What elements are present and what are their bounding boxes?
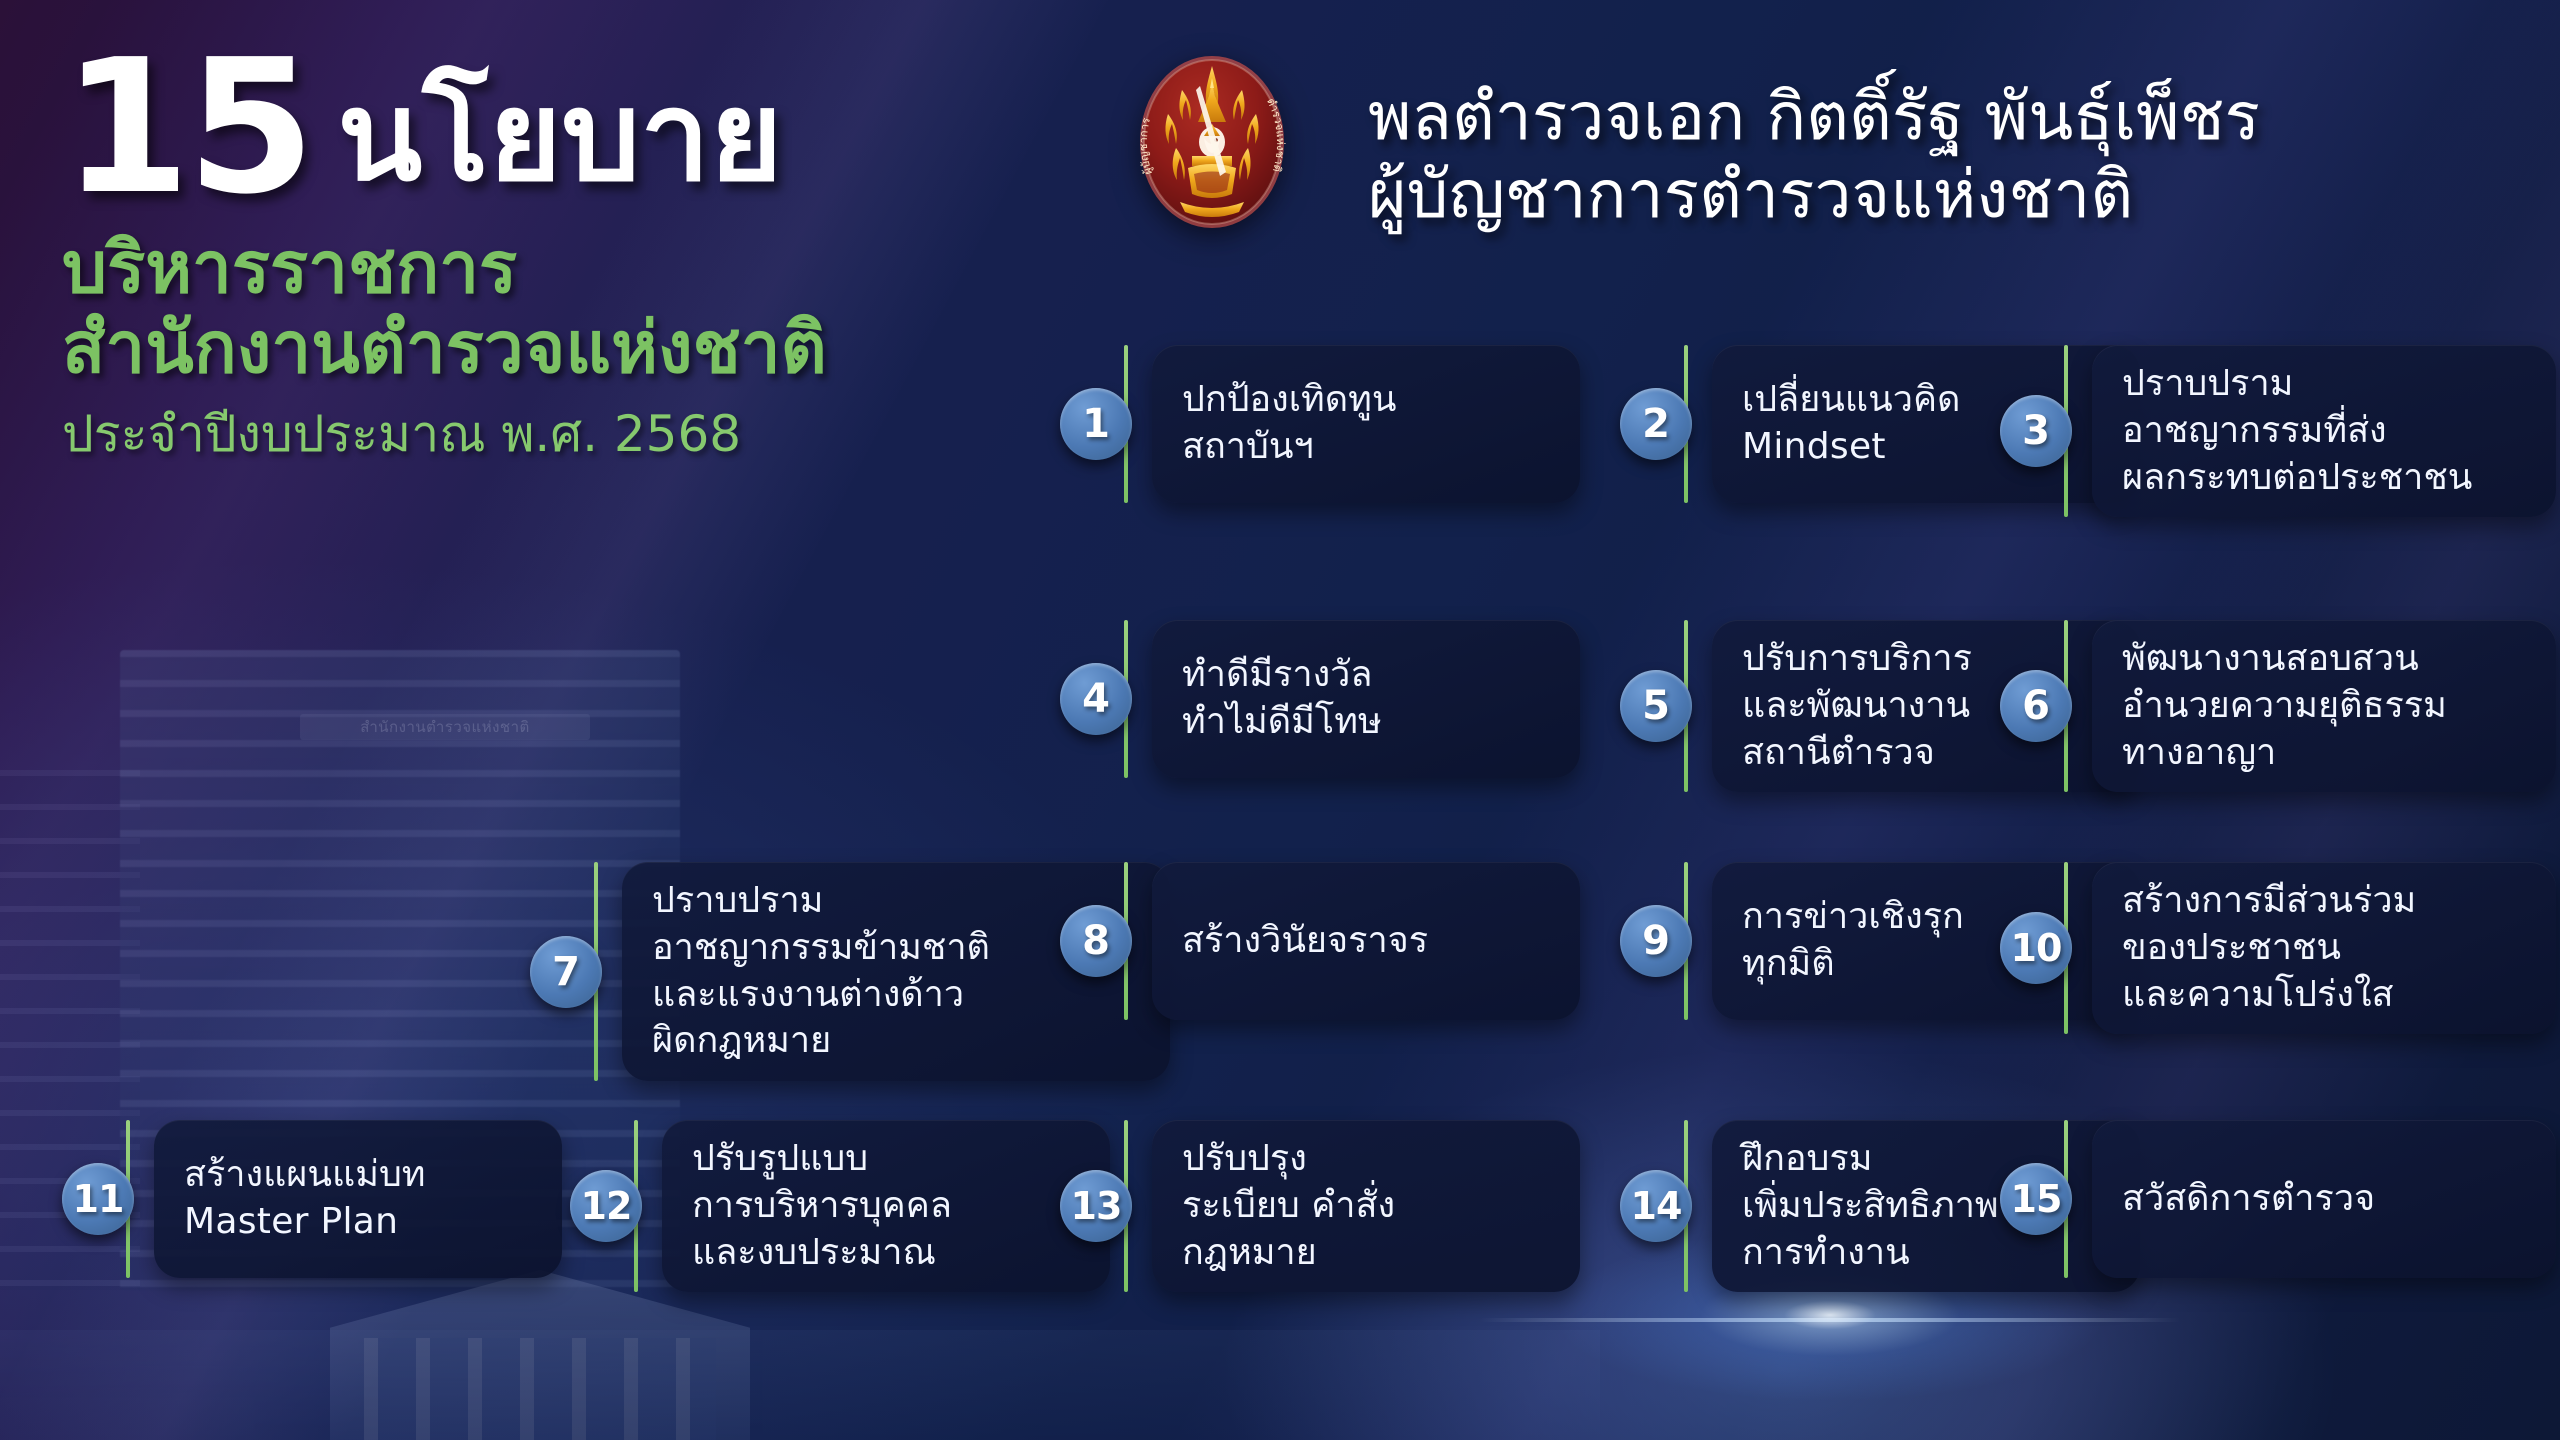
policy-text: ปราบปรามอาชญากรรมที่ส่งผลกระทบต่อประชาชน [2122,361,2472,501]
policy-card[interactable]: ปกป้องเทิดทูนสถาบันฯ [1152,345,1580,503]
policy-number-badge: 9 [1620,905,1692,977]
policy-text: สวัสดิการตำรวจ [2122,1176,2375,1223]
policy-card[interactable]: สร้างแผนแม่บทMaster Plan [154,1120,562,1278]
policy-text: เปลี่ยนแนวคิดMindset [1742,377,1960,471]
policy-number-badge: 13 [1060,1170,1132,1242]
policy-item-10[interactable]: 10 สร้างการมีส่วนร่วมของประชาชนและความโป… [2000,862,2556,1034]
policy-number-badge: 5 [1620,670,1692,742]
policy-number-badge: 11 [62,1163,134,1235]
policy-item-4[interactable]: 4 ทำดีมีรางวัลทำไม่ดีมีโทษ [1060,620,1580,778]
policy-card[interactable]: ทำดีมีรางวัลทำไม่ดีมีโทษ [1152,620,1580,778]
policy-number-badge: 6 [2000,670,2072,742]
policy-item-13[interactable]: 13 ปรับปรุงระเบียบ คำสั่งกฎหมาย [1060,1120,1580,1292]
policy-text: ปรับรูปแบบการบริหารบุคคลและงบประมาณ [692,1136,952,1276]
policy-number-badge: 7 [530,936,602,1008]
policy-card[interactable]: พัฒนางานสอบสวนอำนวยความยุติธรรมทางอาญา [2092,620,2556,792]
policy-card[interactable]: ปราบปรามอาชญากรรมที่ส่งผลกระทบต่อประชาชน [2092,345,2556,517]
policy-number-badge: 1 [1060,388,1132,460]
policy-text: ปรับปรุงระเบียบ คำสั่งกฎหมาย [1182,1136,1395,1276]
policy-number-badge: 10 [2000,912,2072,984]
policy-item-11[interactable]: 11 สร้างแผนแม่บทMaster Plan [62,1120,562,1278]
policy-text: ปราบปรามอาชญากรรมข้ามชาติและแรงงานต่างด้… [652,878,990,1065]
policy-text: สร้างการมีส่วนร่วมของประชาชนและความโปร่ง… [2122,878,2416,1018]
policy-number-badge: 15 [2000,1163,2072,1235]
policy-number-badge: 14 [1620,1170,1692,1242]
policy-text: ทำดีมีรางวัลทำไม่ดีมีโทษ [1182,652,1382,746]
policy-text: การข่าวเชิงรุกทุกมิติ [1742,894,1964,988]
policy-item-1[interactable]: 1 ปกป้องเทิดทูนสถาบันฯ [1060,345,1580,503]
policy-text: พัฒนางานสอบสวนอำนวยความยุติธรรมทางอาญา [2122,636,2447,776]
policy-text: ปกป้องเทิดทูนสถาบันฯ [1182,377,1396,471]
policy-item-3[interactable]: 3 ปราบปรามอาชญากรรมที่ส่งผลกระทบต่อประชา… [2000,345,2556,517]
policy-card[interactable]: สวัสดิการตำรวจ [2092,1120,2556,1278]
policy-item-8[interactable]: 8 สร้างวินัยจราจร [1060,862,1580,1020]
policy-item-6[interactable]: 6 พัฒนางานสอบสวนอำนวยความยุติธรรมทางอาญา [2000,620,2556,792]
policy-card[interactable]: ปรับรูปแบบการบริหารบุคคลและงบประมาณ [662,1120,1110,1292]
policy-item-12[interactable]: 12 ปรับรูปแบบการบริหารบุคคลและงบประมาณ [570,1120,1110,1292]
policy-number-badge: 2 [1620,388,1692,460]
policy-text: ฝึกอบรมเพิ่มประสิทธิภาพการทำงาน [1742,1136,1999,1276]
policy-card[interactable]: ปรับปรุงระเบียบ คำสั่งกฎหมาย [1152,1120,1580,1292]
policy-number-badge: 4 [1060,663,1132,735]
policy-text: สร้างวินัยจราจร [1182,918,1428,965]
policy-text: ปรับการบริการและพัฒนางานสถานีตำรวจ [1742,636,1972,776]
policy-number-badge: 12 [570,1170,642,1242]
policy-item-15[interactable]: 15 สวัสดิการตำรวจ [2000,1120,2556,1278]
policy-number-badge: 3 [2000,395,2072,467]
infographic-poster: สำนักงานตำรวจแห่งชาติ 15 นโยบาย บริหารรา… [0,0,2560,1440]
policy-text: สร้างแผนแม่บทMaster Plan [184,1152,426,1246]
policy-number-badge: 8 [1060,905,1132,977]
policy-card[interactable]: สร้างวินัยจราจร [1152,862,1580,1020]
policy-card[interactable]: สร้างการมีส่วนร่วมของประชาชนและความโปร่ง… [2092,862,2556,1034]
policy-grid: 1 ปกป้องเทิดทูนสถาบันฯ 2 เปลี่ยนแนวคิดMi… [0,0,2560,1440]
